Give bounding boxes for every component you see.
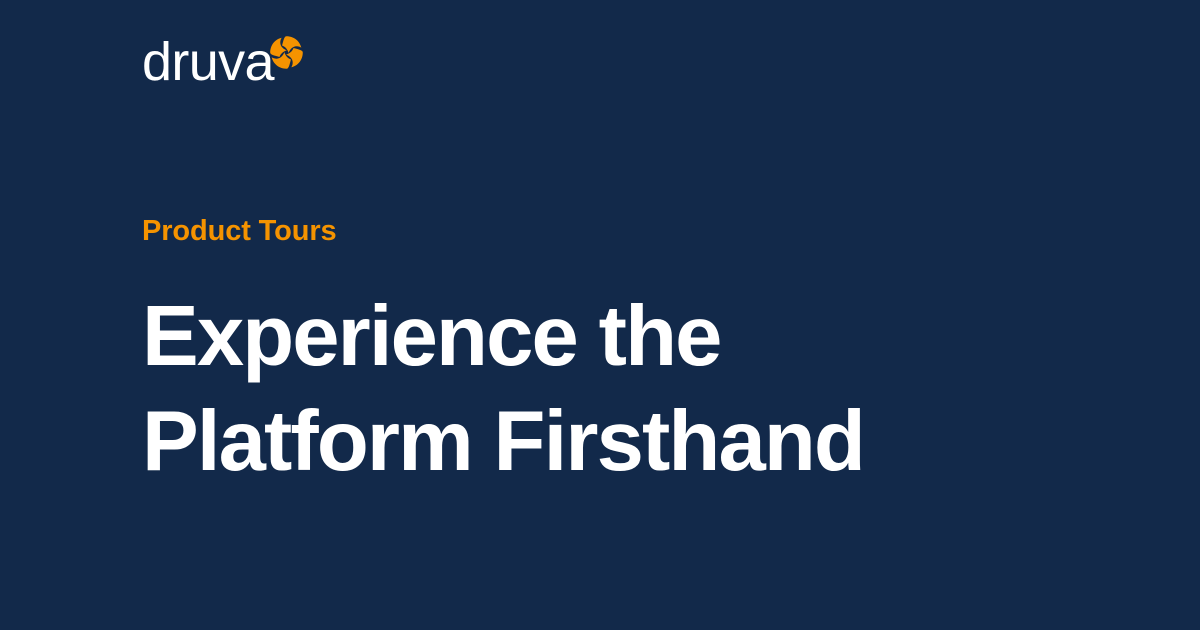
content-block: Product Tours Experience the Platform Fi… <box>142 214 1042 494</box>
brand-logo[interactable]: druva <box>142 36 305 88</box>
eyebrow-label: Product Tours <box>142 214 1042 248</box>
brand-wordmark: druva <box>142 36 274 88</box>
share-card: druva Product Tours Experience the Platf… <box>0 0 1200 630</box>
druva-pinwheel-icon <box>268 34 305 71</box>
headline-line-2: Platform Firsthand <box>142 389 1042 494</box>
headline-line-1: Experience the <box>142 284 1042 389</box>
page-title: Experience the Platform Firsthand <box>142 284 1042 494</box>
